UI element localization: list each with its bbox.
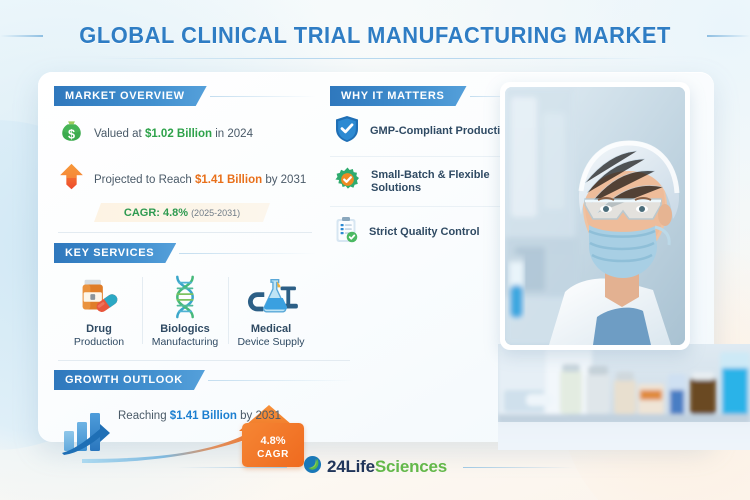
- overview-row-value-2024: $ Valued at $1.02 Billion in 2024: [54, 118, 316, 150]
- left-column: MARKET OVERVIEW $ Valued at $1.02 Billio…: [54, 86, 316, 348]
- footer-rule-right: [463, 467, 573, 468]
- cagr-pill-label: CAGR: 4.8%: [124, 207, 188, 219]
- overview-text-2024: Valued at $1.02 Billion in 2024: [94, 128, 253, 140]
- growth-outlook-text: Reaching $1.41 Billion by 2031: [118, 410, 281, 422]
- cagr-pill: CAGR: 4.8% (2025-2031): [94, 203, 270, 222]
- service-label-line1: Medical: [230, 323, 312, 336]
- brand-logo-dark: 24Life: [327, 457, 375, 476]
- footer: 24LifeSciences: [0, 455, 750, 479]
- key-services-list: Drug Production: [54, 271, 316, 348]
- section-divider: [58, 232, 312, 233]
- service-card-biologics-manufacturing[interactable]: Biologics Manufacturing: [142, 271, 228, 348]
- page-title: GLOBAL CLINICAL TRIAL MANUFACTURING MARK…: [79, 22, 671, 49]
- why-it-matters-banner-label: WHY IT MATTERS: [330, 86, 467, 106]
- banner-line: [179, 253, 316, 254]
- growth-divider: [58, 360, 350, 361]
- technician-photo-frame: [500, 82, 690, 350]
- leaf-circle-logo-icon: [303, 455, 322, 479]
- brand-logo[interactable]: 24LifeSciences: [303, 455, 447, 479]
- overview-value-2031: $1.41 Billion: [195, 174, 262, 186]
- overview-suffix-2024: in 2024: [212, 128, 253, 140]
- service-label-line2: Production: [58, 336, 140, 348]
- banner-line: [208, 380, 354, 381]
- cagr-badge-number: 4.8%: [260, 430, 285, 447]
- growth-suffix: by 2031: [237, 410, 281, 422]
- service-label-line2: Device Supply: [230, 336, 312, 348]
- dna-helix-icon: [144, 271, 226, 323]
- growth-prefix: Reaching: [118, 410, 170, 422]
- overview-prefix-2024: Valued at: [94, 128, 145, 140]
- gear-check-icon: [334, 166, 361, 198]
- overview-value-2024: $1.02 Billion: [145, 128, 212, 140]
- why-it-matters-header: WHY IT MATTERS: [330, 86, 526, 106]
- brand-logo-green: Sciences: [375, 457, 447, 476]
- header-underline: [95, 58, 655, 59]
- cagr-badge-value: 4.8: [260, 435, 275, 447]
- service-label-line2: Manufacturing: [144, 336, 226, 348]
- overview-row-value-2031: Projected to Reach $1.41 Billion by 2031: [54, 162, 316, 197]
- key-services-banner-label: KEY SERVICES: [54, 243, 176, 263]
- title-rule-right: [707, 35, 750, 37]
- why-item-small-batch[interactable]: Small-Batch & Flexible Solutions: [330, 156, 526, 206]
- footer-rule-left: [177, 467, 287, 468]
- why-item-gmp-compliant[interactable]: GMP-Compliant Production: [330, 106, 526, 156]
- title-rule-left: [0, 35, 43, 37]
- overview-text-2031: Projected to Reach $1.41 Billion by 2031: [94, 174, 306, 186]
- header: GLOBAL CLINICAL TRIAL MANUFACTURING MARK…: [0, 22, 750, 59]
- service-card-medical-device-supply[interactable]: Medical Device Supply: [228, 271, 314, 348]
- lab-bench-photo: [498, 344, 750, 450]
- cagr-badge-percent: %: [276, 435, 286, 447]
- svg-text:$: $: [68, 127, 75, 141]
- growth-outlook-header: GROWTH OUTLOOK: [54, 370, 354, 390]
- clipboard-check-icon: [334, 216, 359, 249]
- growth-outlook-section: GROWTH OUTLOOK: [54, 350, 354, 467]
- why-item-label: Strict Quality Control: [369, 226, 480, 239]
- service-label-line1: Biologics: [144, 323, 226, 336]
- technician-photo: [505, 87, 685, 345]
- market-overview-banner-label: MARKET OVERVIEW: [54, 86, 207, 106]
- cagr-pill-years: (2025-2031): [191, 208, 240, 218]
- overview-prefix-2031: Projected to Reach: [94, 174, 195, 186]
- money-bag-icon: $: [58, 118, 85, 150]
- market-overview-header: MARKET OVERVIEW: [54, 86, 316, 106]
- service-card-drug-production[interactable]: Drug Production: [56, 271, 142, 348]
- bar-chart-arrow-icon: [62, 413, 110, 455]
- shield-check-icon: [334, 115, 360, 148]
- infographic-root: GLOBAL CLINICAL TRIAL MANUFACTURING MARK…: [0, 0, 750, 500]
- up-arrow-icon: [58, 162, 85, 197]
- pill-bottle-icon: [58, 271, 140, 323]
- why-item-strict-quality[interactable]: Strict Quality Control: [330, 206, 526, 257]
- why-item-label: GMP-Compliant Production: [370, 125, 514, 138]
- key-services-header: KEY SERVICES: [54, 243, 316, 263]
- lab-flask-icon: [230, 271, 312, 323]
- overview-suffix-2031: by 2031: [262, 174, 306, 186]
- banner-line: [210, 96, 316, 97]
- brand-logo-text: 24LifeSciences: [327, 457, 447, 477]
- service-label-line1: Drug: [58, 323, 140, 336]
- why-it-matters-column: WHY IT MATTERS GMP-Compliant Production: [330, 86, 526, 257]
- growth-value: $1.41 Billion: [170, 410, 237, 422]
- growth-outlook-banner-label: GROWTH OUTLOOK: [54, 370, 205, 390]
